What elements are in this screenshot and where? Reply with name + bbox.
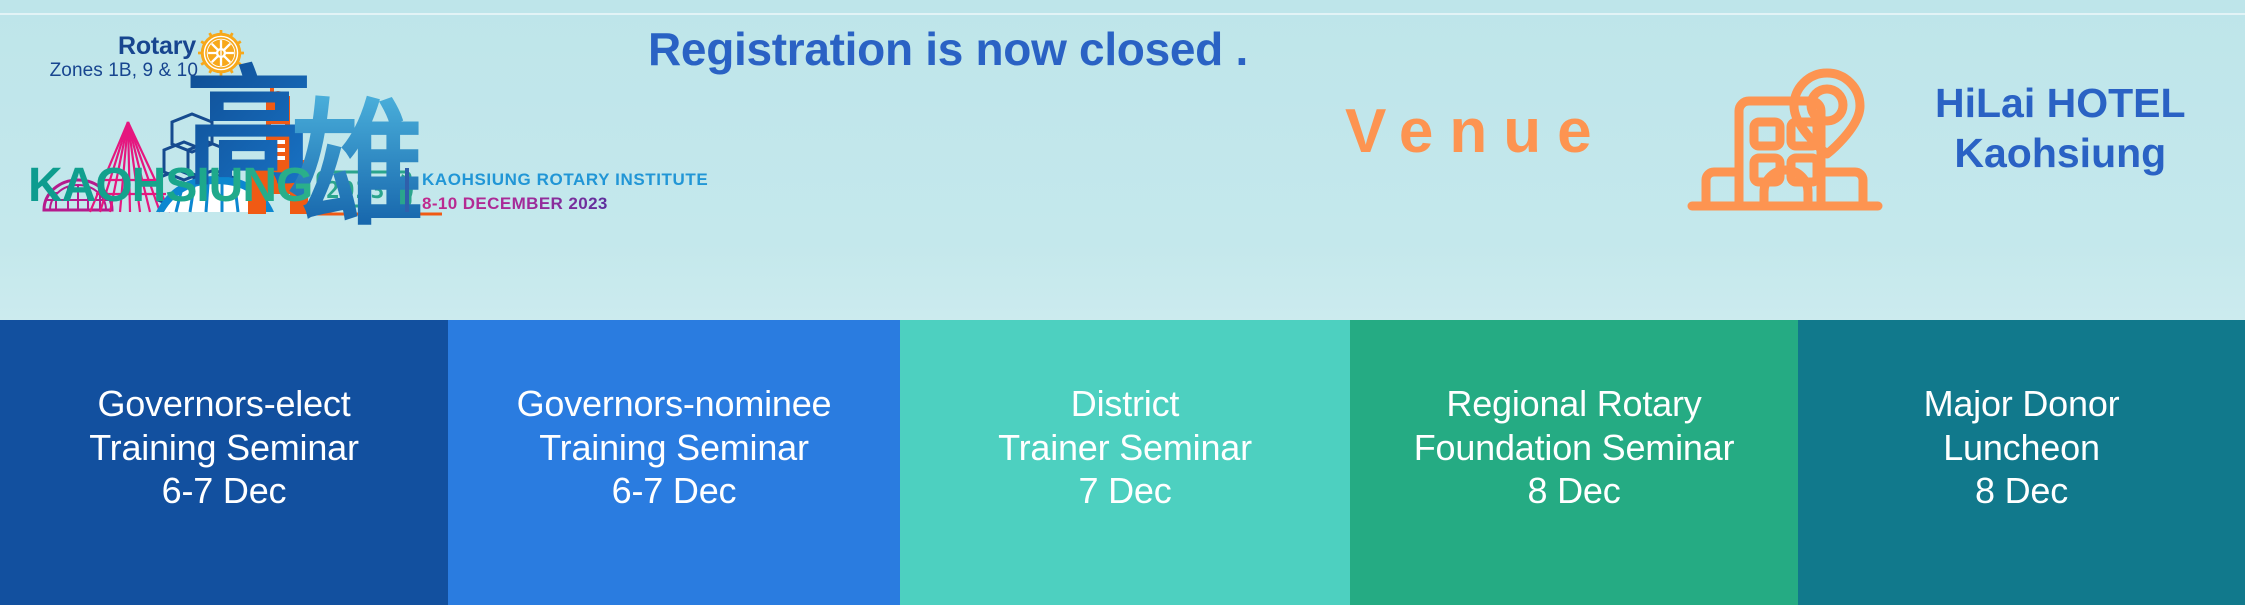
hotel-name-line-1: HiLai HOTEL xyxy=(1935,80,2186,126)
kaohsiung-chinese-calligraphy: 高 雄 xyxy=(185,52,435,252)
session-title-line-2: Luncheon xyxy=(1924,426,2120,470)
session-title-line-1: Governors-nominee xyxy=(517,382,832,426)
session-title-line-1: Major Donor xyxy=(1924,382,2120,426)
rotary-zones-label: Zones 1B, 9 & 10 xyxy=(50,60,198,82)
session-title-line-1: Governors-elect xyxy=(89,382,359,426)
session-tile-governors-nominee[interactable]: Governors-nominee Training Seminar 6-7 D… xyxy=(448,320,900,605)
session-date: 8 Dec xyxy=(1924,469,2120,513)
session-date: 8 Dec xyxy=(1414,469,1735,513)
session-title-line-2: Trainer Seminar xyxy=(998,426,1252,470)
kaohsiung-wordmark: KAOHSIUNG xyxy=(28,158,312,213)
session-tile-major-donor-luncheon[interactable]: Major Donor Luncheon 8 Dec xyxy=(1798,320,2245,605)
session-tile-district-trainer[interactable]: District Trainer Seminar 7 Dec xyxy=(900,320,1350,605)
session-tile-governors-elect[interactable]: Governors-elect Training Seminar 6-7 Dec xyxy=(0,320,448,605)
session-date: 6-7 Dec xyxy=(89,469,359,513)
session-title-line-1: District xyxy=(998,382,1252,426)
session-title-line-2: Training Seminar xyxy=(517,426,832,470)
session-tile-regional-rotary-foundation[interactable]: Regional Rotary Foundation Seminar 8 Dec xyxy=(1350,320,1798,605)
hotel-name-line-2: Kaohsiung xyxy=(1954,130,2166,176)
venue-hotel-name: HiLai HOTEL Kaohsiung xyxy=(1935,78,2186,178)
institute-name: KAOHSIUNG ROTARY INSTITUTE xyxy=(422,170,708,190)
hotel-location-pin-icon xyxy=(1682,58,1887,213)
kaohsiung-rotary-institute-logo: Rotary Zones 1B, 9 & 10 xyxy=(0,18,700,218)
venue-label: Venue xyxy=(1345,96,1608,167)
institute-date: 8-10 DECEMBER 2023 xyxy=(422,194,608,214)
logo-divider xyxy=(405,168,409,212)
session-title-line-1: Regional Rotary xyxy=(1414,382,1735,426)
page-title: Registration is now closed . xyxy=(648,22,1248,76)
session-date: 6-7 Dec xyxy=(517,469,832,513)
session-date: 7 Dec xyxy=(998,469,1252,513)
top-hairline-divider xyxy=(0,13,2245,15)
session-title-line-2: Training Seminar xyxy=(89,426,359,470)
event-sessions-row: Governors-elect Training Seminar 6-7 Dec… xyxy=(0,320,2245,605)
event-banner: Rotary Zones 1B, 9 & 10 xyxy=(0,0,2245,605)
session-title-line-2: Foundation Seminar xyxy=(1414,426,1735,470)
